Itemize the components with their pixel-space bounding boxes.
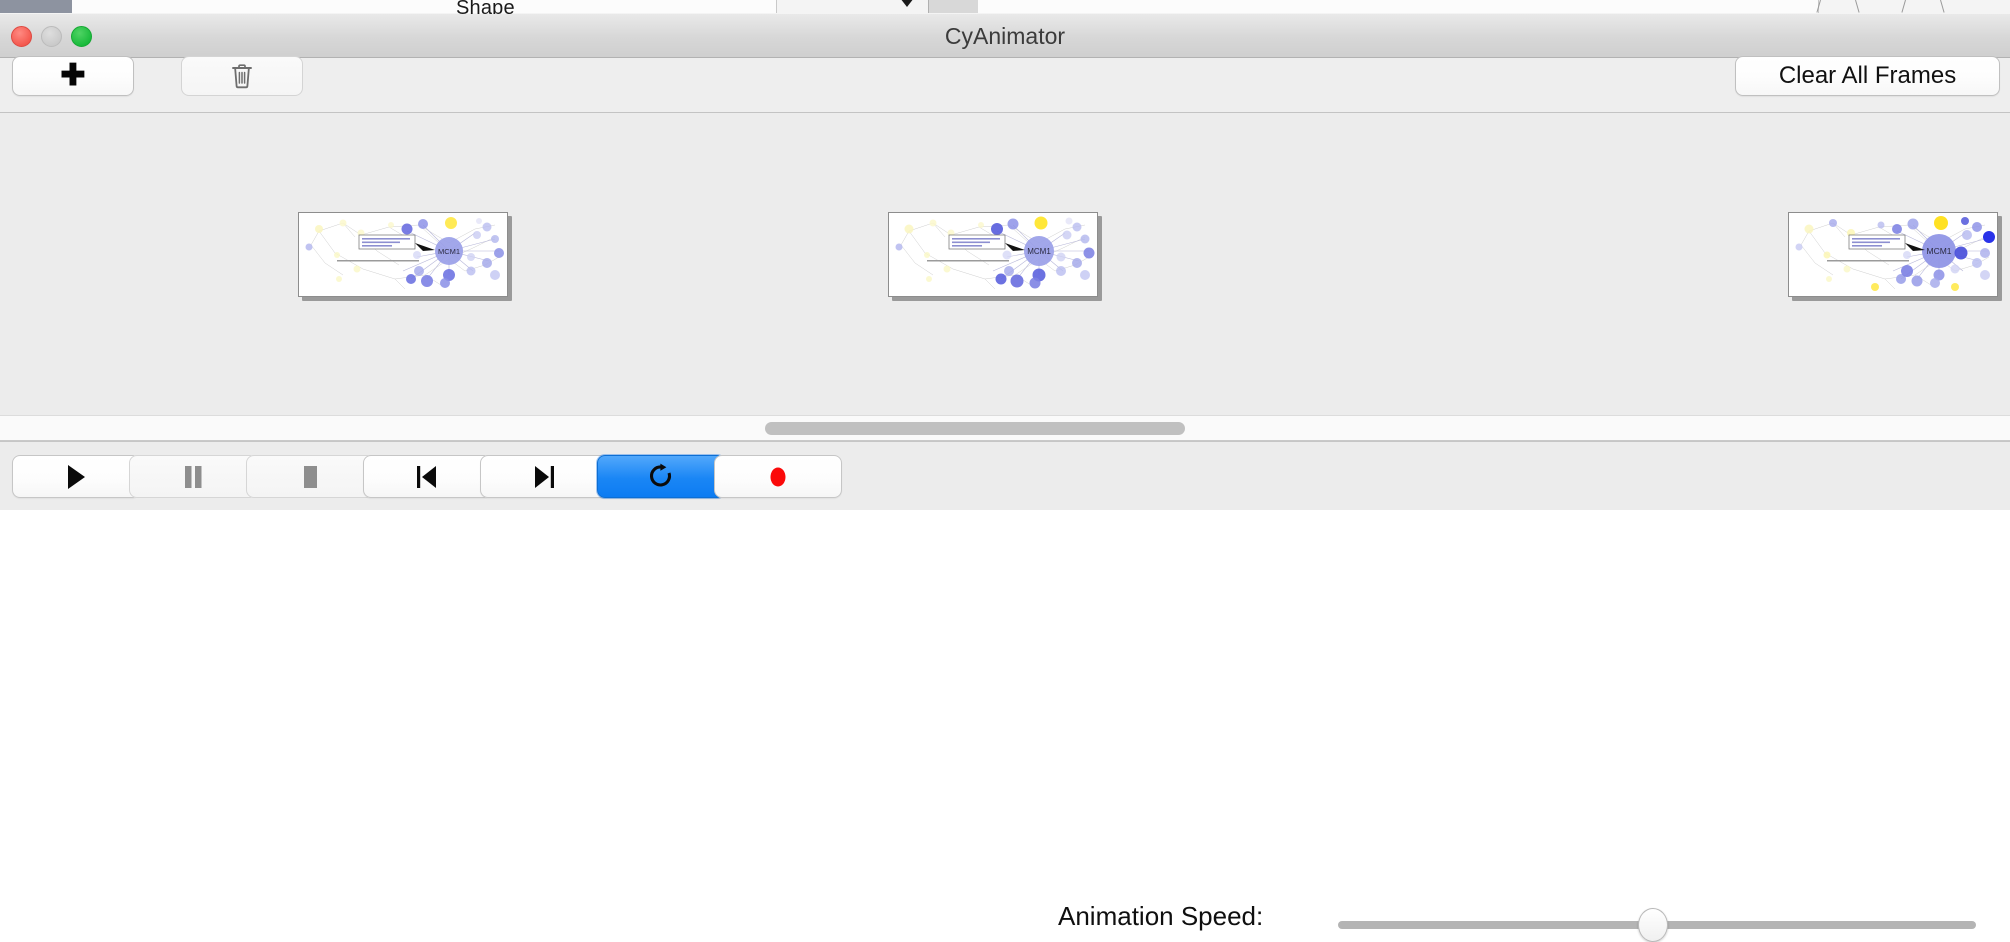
background-slash	[1855, 0, 1860, 13]
timeline-panel[interactable]: MCM1	[0, 113, 2010, 415]
delete-frame-button[interactable]	[181, 56, 303, 96]
background-slash	[1940, 0, 1945, 13]
traffic-lights	[11, 26, 92, 47]
pause-button[interactable]	[129, 455, 257, 498]
timeline-frame-1[interactable]: MCM1	[298, 212, 508, 297]
close-icon[interactable]	[11, 26, 32, 47]
pause-icon	[181, 463, 205, 491]
background-cell	[978, 0, 1819, 13]
skip-start-icon	[414, 463, 440, 491]
background-caret-icon	[900, 0, 914, 7]
background-cell	[190, 0, 245, 13]
skip-to-end-button[interactable]	[480, 455, 608, 498]
play-icon	[64, 463, 88, 491]
timeline-frame-3[interactable]: MCM1	[1788, 212, 1998, 297]
network-graph-icon: MCM1	[299, 213, 507, 296]
play-button[interactable]	[12, 455, 140, 498]
animation-speed-label: Animation Speed:	[1058, 901, 1263, 932]
frame-thumbnail: MCM1	[888, 212, 1098, 297]
window-title: CyAnimator	[0, 14, 2010, 58]
background-tab	[928, 0, 980, 13]
thumbnail-center-node-label: MCM1	[1027, 247, 1051, 256]
record-button[interactable]	[714, 455, 842, 498]
loop-icon	[648, 463, 674, 491]
trash-icon	[230, 63, 254, 89]
clear-all-frames-label: Clear All Frames	[1779, 62, 1956, 90]
timeline-scrollbar[interactable]	[0, 415, 2010, 441]
background-window-label: Shape	[456, 0, 515, 15]
plus-icon: ✚	[60, 61, 85, 91]
loop-button[interactable]	[597, 455, 725, 498]
timeline-frame-2[interactable]: MCM1	[888, 212, 1098, 297]
background-cell	[356, 0, 777, 13]
background-window-sidebar	[0, 0, 72, 13]
title-bar: CyAnimator	[0, 14, 2010, 58]
minimize-icon[interactable]	[41, 26, 62, 47]
background-slash	[1901, 0, 1906, 13]
maximize-icon[interactable]	[71, 26, 92, 47]
background-cell	[164, 0, 191, 13]
add-frame-button[interactable]: ✚	[12, 56, 134, 96]
skip-to-start-button[interactable]	[363, 455, 491, 498]
network-graph-icon: MCM1	[1789, 213, 1997, 296]
stop-icon	[298, 463, 322, 491]
background-cell	[72, 0, 165, 13]
frame-thumbnail: MCM1	[298, 212, 508, 297]
clear-all-frames-button[interactable]: Clear All Frames	[1735, 56, 2000, 96]
background-cell	[300, 0, 357, 13]
frame-thumbnail: MCM1	[1788, 212, 1998, 297]
skip-end-icon	[531, 463, 557, 491]
background-cell	[244, 0, 301, 13]
thumbnail-center-node-label: MCM1	[438, 247, 460, 256]
stop-button[interactable]	[246, 455, 374, 498]
network-graph-icon: MCM1	[889, 213, 1097, 296]
playback-control-bar: Animation Speed:	[0, 441, 2010, 510]
cyanimator-window: Shape CyAnimator ✚ Clear All Frames	[0, 0, 2010, 510]
animation-speed-slider-thumb[interactable]	[1638, 908, 1668, 942]
background-window-strip: Shape	[0, 0, 2010, 15]
record-icon	[765, 463, 791, 491]
thumbnail-center-node-label: MCM1	[1926, 246, 1951, 256]
scrollbar-thumb[interactable]	[765, 422, 1185, 435]
